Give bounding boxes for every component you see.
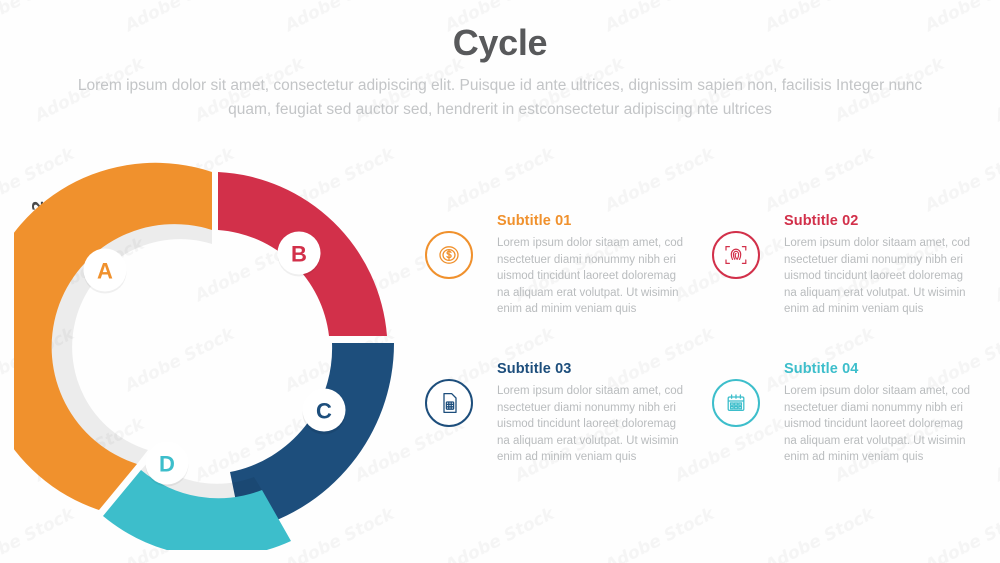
donut-letter-a: A [97, 259, 113, 284]
donut-letter-badge-d[interactable]: D [146, 442, 189, 487]
list-item[interactable]: Subtitle 03 Lorem ipsum dolor sitaam ame… [425, 353, 698, 501]
item-text-column: Subtitle 02 Lorem ipsum dolor sitaam ame… [784, 205, 985, 318]
page-title: Cycle [0, 22, 1000, 64]
watermark-text: Adobe Stock [762, 504, 878, 563]
item-body: Lorem ipsum dolor sitaam amet, cod nsect… [497, 383, 687, 466]
fingerprint-scan-icon[interactable] [712, 231, 760, 279]
donut-letter-b: B [291, 242, 307, 267]
sim-card-icon[interactable] [425, 379, 473, 427]
donut-letter-badge-a[interactable]: A [84, 249, 127, 294]
list-item[interactable]: Subtitle 01 Lorem ipsum dolor sitaam ame… [425, 205, 698, 353]
item-text-column: Subtitle 03 Lorem ipsum dolor sitaam ame… [497, 353, 698, 466]
watermark-text: Adobe Stock [992, 54, 1000, 126]
item-title: Subtitle 04 [784, 361, 985, 377]
list-item[interactable]: Subtitle 02 Lorem ipsum dolor sitaam ame… [712, 205, 985, 353]
donut-svg: A B C D [14, 150, 414, 550]
item-body: Lorem ipsum dolor sitaam amet, cod nsect… [784, 383, 974, 466]
list-item[interactable]: Subtitle 04 Lorem ipsum dolor sitaam ame… [712, 353, 985, 501]
watermark-text: Adobe Stock [992, 414, 1000, 486]
item-text-column: Subtitle 04 Lorem ipsum dolor sitaam ame… [784, 353, 985, 466]
infographic-slide: Adobe StockAdobe StockAdobe StockAdobe S… [0, 0, 1000, 563]
donut-letter-badge-b[interactable]: B [278, 232, 321, 277]
watermark-text: Adobe Stock [992, 234, 1000, 306]
item-icon-column [425, 205, 497, 279]
donut-letter-badge-c[interactable]: C [303, 389, 346, 435]
calendar-icon[interactable] [712, 379, 760, 427]
item-title: Subtitle 01 [497, 213, 698, 229]
cycle-donut-chart: A B C D [14, 150, 414, 550]
donut-letter-d: D [159, 452, 175, 477]
item-body: Lorem ipsum dolor sitaam amet, cod nsect… [497, 235, 687, 318]
subtitle-items-grid: Subtitle 01 Lorem ipsum dolor sitaam ame… [425, 205, 985, 501]
donut-letter-c: C [316, 399, 332, 424]
item-text-column: Subtitle 01 Lorem ipsum dolor sitaam ame… [497, 205, 698, 318]
item-body: Lorem ipsum dolor sitaam amet, cod nsect… [784, 235, 974, 318]
item-title: Subtitle 02 [784, 213, 985, 229]
item-icon-column [712, 353, 784, 427]
watermark-text: Adobe Stock [922, 504, 1000, 563]
watermark-text: Adobe Stock [602, 504, 718, 563]
page-subtitle: Lorem ipsum dolor sit amet, consectetur … [60, 74, 940, 122]
item-icon-column [425, 353, 497, 427]
watermark-text: Adobe Stock [442, 504, 558, 563]
item-title: Subtitle 03 [497, 361, 698, 377]
coin-dollar-icon[interactable] [425, 231, 473, 279]
item-icon-column [712, 205, 784, 279]
